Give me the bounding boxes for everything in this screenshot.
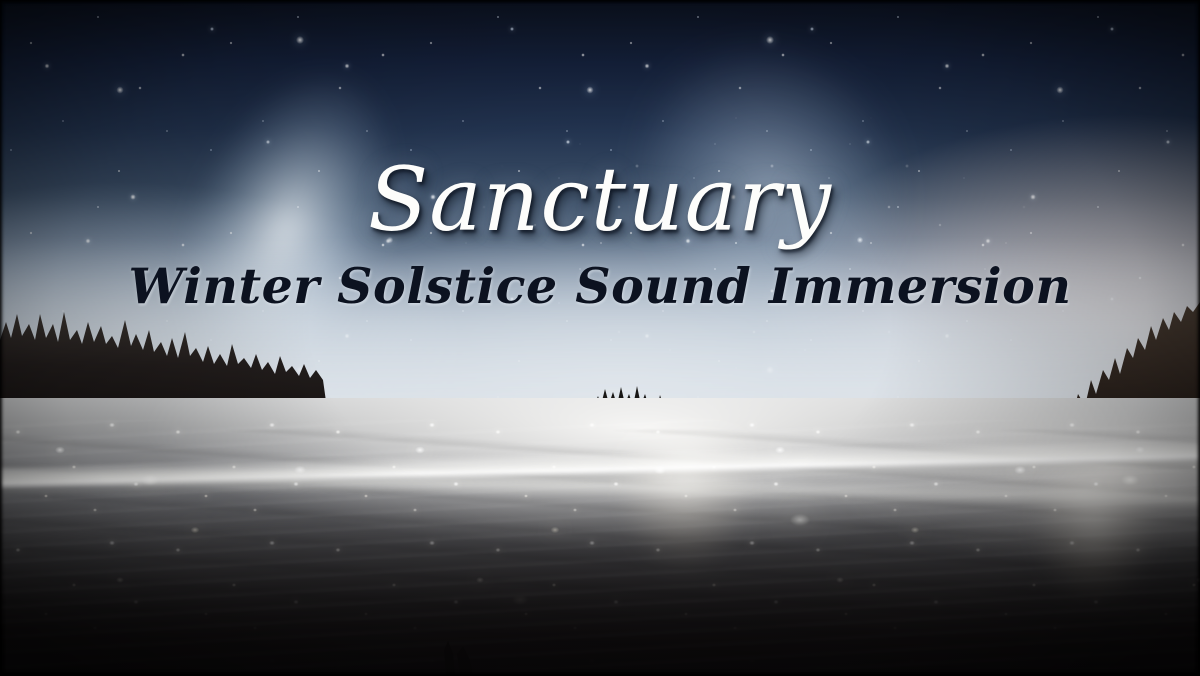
starry-night-sky: [0, 0, 1200, 430]
frozen-lake-ice: [0, 398, 1200, 676]
event-banner: Sanctuary Winter Solstice Sound Immersio…: [0, 0, 1200, 676]
